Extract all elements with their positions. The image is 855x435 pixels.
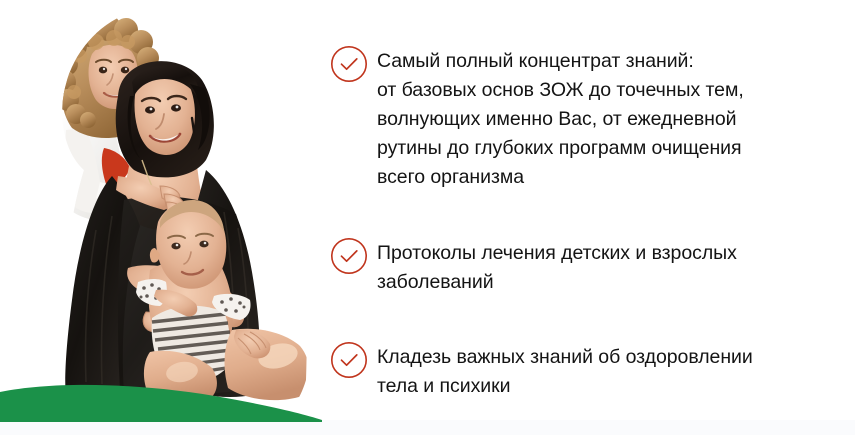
bottom-strip: [0, 420, 855, 435]
green-curve-decoration: [0, 382, 330, 422]
benefit-text: Кладезь важных знаний об оздоровлении те…: [377, 340, 753, 401]
benefit-item: Кладезь важных знаний об оздоровлении те…: [330, 340, 840, 401]
benefit-item: Самый полный концентрат знаний: от базов…: [330, 44, 840, 192]
family-photo: [0, 0, 320, 422]
promo-banner: Самый полный концентрат знаний: от базов…: [0, 0, 855, 435]
benefit-text: Самый полный концентрат знаний: от базов…: [377, 44, 744, 192]
benefit-text: Протоколы лечения детских и взрослых заб…: [377, 236, 737, 297]
check-circle-icon: [330, 237, 368, 275]
check-circle-icon: [330, 45, 368, 83]
benefit-item: Протоколы лечения детских и взрослых заб…: [330, 236, 840, 297]
benefits-list: Самый полный концентрат знаний: от базов…: [330, 44, 840, 401]
check-circle-icon: [330, 341, 368, 379]
